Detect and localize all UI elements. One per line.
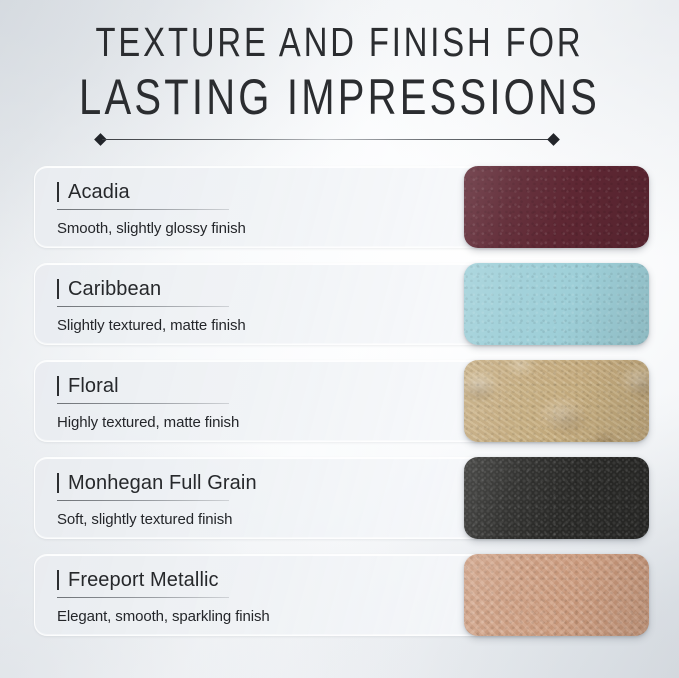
- floral-emboss-texture: [464, 360, 649, 442]
- finish-name-underline: [57, 209, 229, 210]
- infographic-canvas: TEXTURE AND FINISH FOR LASTING IMPRESSIO…: [0, 0, 679, 678]
- swatch-monhegan-full-grain[interactable]: [464, 457, 649, 539]
- bar-marker-icon: [57, 279, 59, 299]
- swatch-sheen: [464, 166, 649, 248]
- finish-name-underline: [57, 500, 229, 501]
- list-item[interactable]: AcadiaSmooth, slightly glossy finish: [0, 166, 679, 248]
- swatch-sheen: [464, 554, 649, 636]
- list-item[interactable]: Freeport MetallicElegant, smooth, sparkl…: [0, 554, 679, 636]
- swatch-floral[interactable]: [464, 360, 649, 442]
- finish-name-underline: [57, 597, 229, 598]
- leather-grain-texture: [464, 554, 649, 636]
- metallic-shimmer-texture: [464, 554, 649, 636]
- pebble-grain-texture: [464, 457, 649, 539]
- page-title-line-2: LASTING IMPRESSIONS: [68, 72, 611, 122]
- leather-grain-texture: [464, 263, 649, 345]
- diamond-right-icon: [547, 133, 560, 146]
- finish-name: Floral: [68, 375, 119, 398]
- divider-line: [102, 139, 552, 140]
- swatch-sheen: [464, 360, 649, 442]
- page-title-line-1: TEXTURE AND FINISH FOR: [68, 22, 611, 63]
- finish-name: Monhegan Full Grain: [68, 472, 257, 495]
- list-item[interactable]: FloralHighly textured, matte finish: [0, 360, 679, 442]
- bar-marker-icon: [57, 570, 59, 590]
- finish-list: AcadiaSmooth, slightly glossy finishCari…: [0, 166, 679, 651]
- finish-name-underline: [57, 306, 229, 307]
- list-item[interactable]: Monhegan Full GrainSoft, slightly textur…: [0, 457, 679, 539]
- leather-grain-texture: [464, 166, 649, 248]
- finish-name: Acadia: [68, 181, 130, 204]
- swatch-acadia[interactable]: [464, 166, 649, 248]
- bar-marker-icon: [57, 182, 59, 202]
- leather-grain-texture: [464, 360, 649, 442]
- swatch-sheen: [464, 263, 649, 345]
- finish-name-underline: [57, 403, 229, 404]
- header: TEXTURE AND FINISH FOR LASTING IMPRESSIO…: [0, 22, 679, 122]
- swatch-sheen: [464, 457, 649, 539]
- finish-name: Freeport Metallic: [68, 569, 219, 592]
- bar-marker-icon: [57, 473, 59, 493]
- swatch-freeport-metallic[interactable]: [464, 554, 649, 636]
- divider-rule: [96, 133, 558, 147]
- list-item[interactable]: CaribbeanSlightly textured, matte finish: [0, 263, 679, 345]
- bar-marker-icon: [57, 376, 59, 396]
- swatch-caribbean[interactable]: [464, 263, 649, 345]
- leather-grain-texture: [464, 457, 649, 539]
- finish-name: Caribbean: [68, 278, 161, 301]
